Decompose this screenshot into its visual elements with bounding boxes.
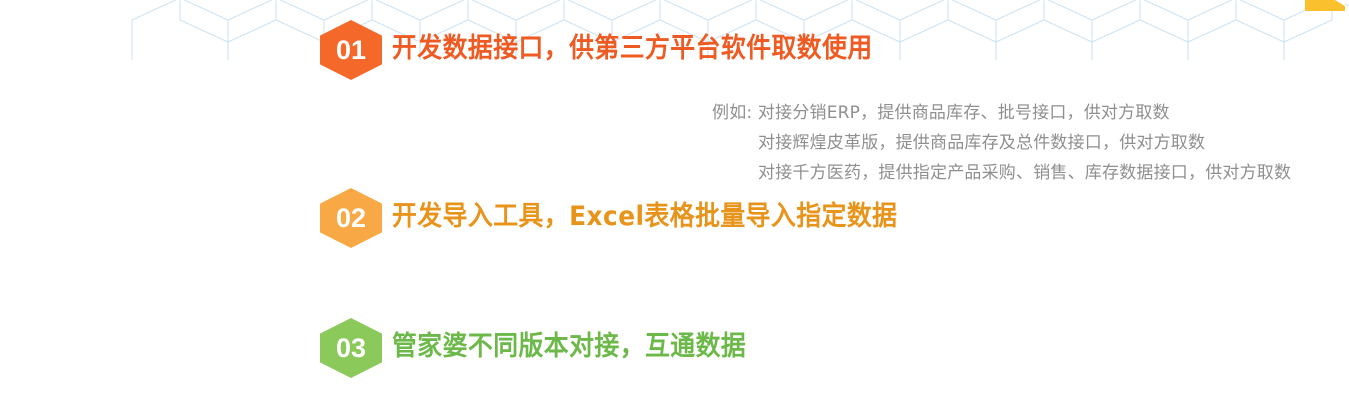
feature-list: 01 开发数据接口，供第三方平台软件取数使用 例如: 对接分销ERP，提供商品库… (0, 0, 1349, 403)
step-number-01: 01 (336, 37, 366, 64)
step-badge-01: 01 (320, 20, 382, 80)
step-badge-02: 02 (320, 188, 382, 248)
example-line: 对接辉煌皮革版，提供商品库存及总件数接口，供对方取数 (712, 128, 1291, 158)
example-line: 对接千方医药，提供指定产品采购、销售、库存数据接口，供对方取数 (712, 158, 1291, 188)
section-heading-01: 开发数据接口，供第三方平台软件取数使用 (392, 30, 873, 68)
step-badge-03: 03 (320, 318, 382, 378)
example-list-01: 例如: 对接分销ERP，提供商品库存、批号接口，供对方取数 对接辉煌皮革版，提供… (712, 98, 1291, 188)
step-number-03: 03 (336, 335, 366, 362)
section-heading-02: 开发导入工具，Excel表格批量导入指定数据 (392, 198, 897, 236)
step-number-02: 02 (336, 205, 366, 232)
example-line: 例如: 对接分销ERP，提供商品库存、批号接口，供对方取数 (712, 98, 1291, 128)
section-heading-03: 管家婆不同版本对接，互通数据 (392, 328, 746, 366)
